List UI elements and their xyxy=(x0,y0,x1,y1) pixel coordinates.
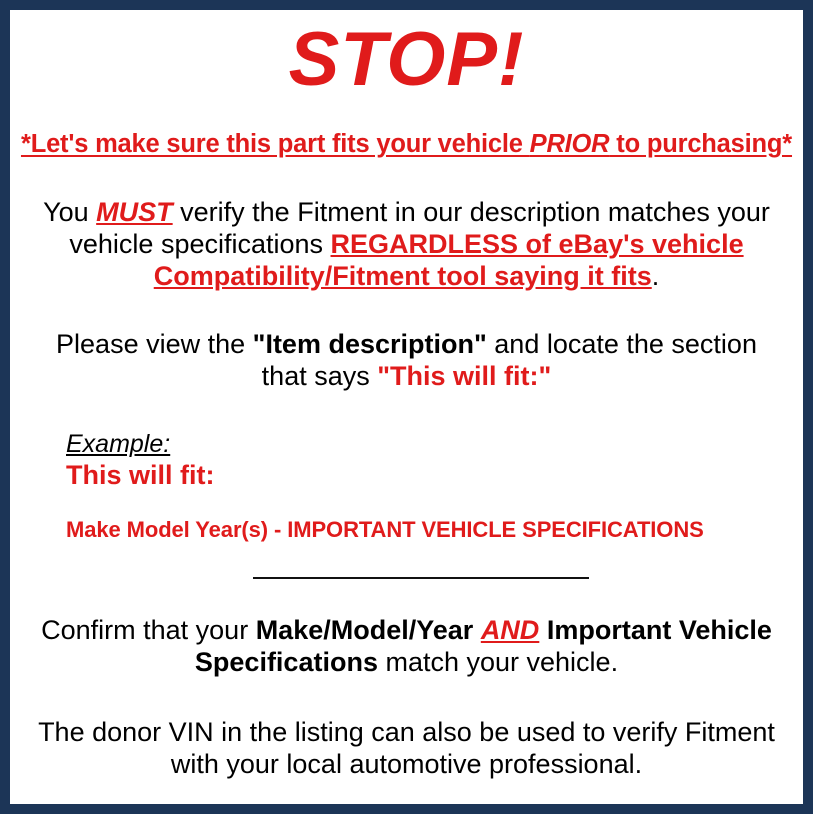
stop-headline: STOP! xyxy=(18,22,795,98)
item-description-emphasis: "Item description" xyxy=(253,329,487,359)
confirm-text-1: Confirm that your xyxy=(41,615,256,645)
and-emphasis: AND xyxy=(481,615,540,645)
make-model-year-emphasis: Make/Model/Year xyxy=(256,615,474,645)
confirm-text-2 xyxy=(473,615,481,645)
please-text-1: Please view the xyxy=(56,329,253,359)
example-spec-line: Make Model Year(s) - IMPORTANT VEHICLE S… xyxy=(66,517,795,543)
donor-vin-paragraph: The donor VIN in the listing can also be… xyxy=(18,717,795,781)
example-label: Example: xyxy=(66,431,170,459)
fitment-notice-banner: STOP! *Let's make sure this part fits yo… xyxy=(0,0,813,814)
confirm-paragraph: Confirm that your Make/Model/Year AND Im… xyxy=(18,615,795,679)
must-text-1: You xyxy=(43,197,96,227)
divider-wrap xyxy=(18,571,795,585)
item-description-paragraph: Please view the "Item description" and l… xyxy=(18,329,795,393)
subhead-text-after: to purchasing* xyxy=(609,130,792,158)
confirm-text-3 xyxy=(539,615,547,645)
must-emphasis: MUST xyxy=(96,197,173,227)
subhead-text-before: *Let's make sure this part fits your veh… xyxy=(21,130,530,158)
subhead-line: *Let's make sure this part fits your veh… xyxy=(18,130,795,159)
must-verify-paragraph: You MUST verify the Fitment in our descr… xyxy=(18,197,795,293)
confirm-text-4: match your vehicle. xyxy=(378,647,618,677)
example-fit-line: This will fit: xyxy=(66,460,795,491)
thank-you-line: Thank you for confirming Fitment! xyxy=(18,807,795,814)
example-block: Example: This will fit: Make Model Year(… xyxy=(18,431,795,544)
example-label-row: Example: xyxy=(66,431,795,459)
subhead-emphasis-prior: PRIOR xyxy=(530,130,610,158)
notice-inner: STOP! *Let's make sure this part fits yo… xyxy=(10,22,803,814)
must-text-3: . xyxy=(652,261,660,291)
this-will-fit-emphasis: "This will fit:" xyxy=(377,361,551,391)
section-divider xyxy=(253,577,589,579)
